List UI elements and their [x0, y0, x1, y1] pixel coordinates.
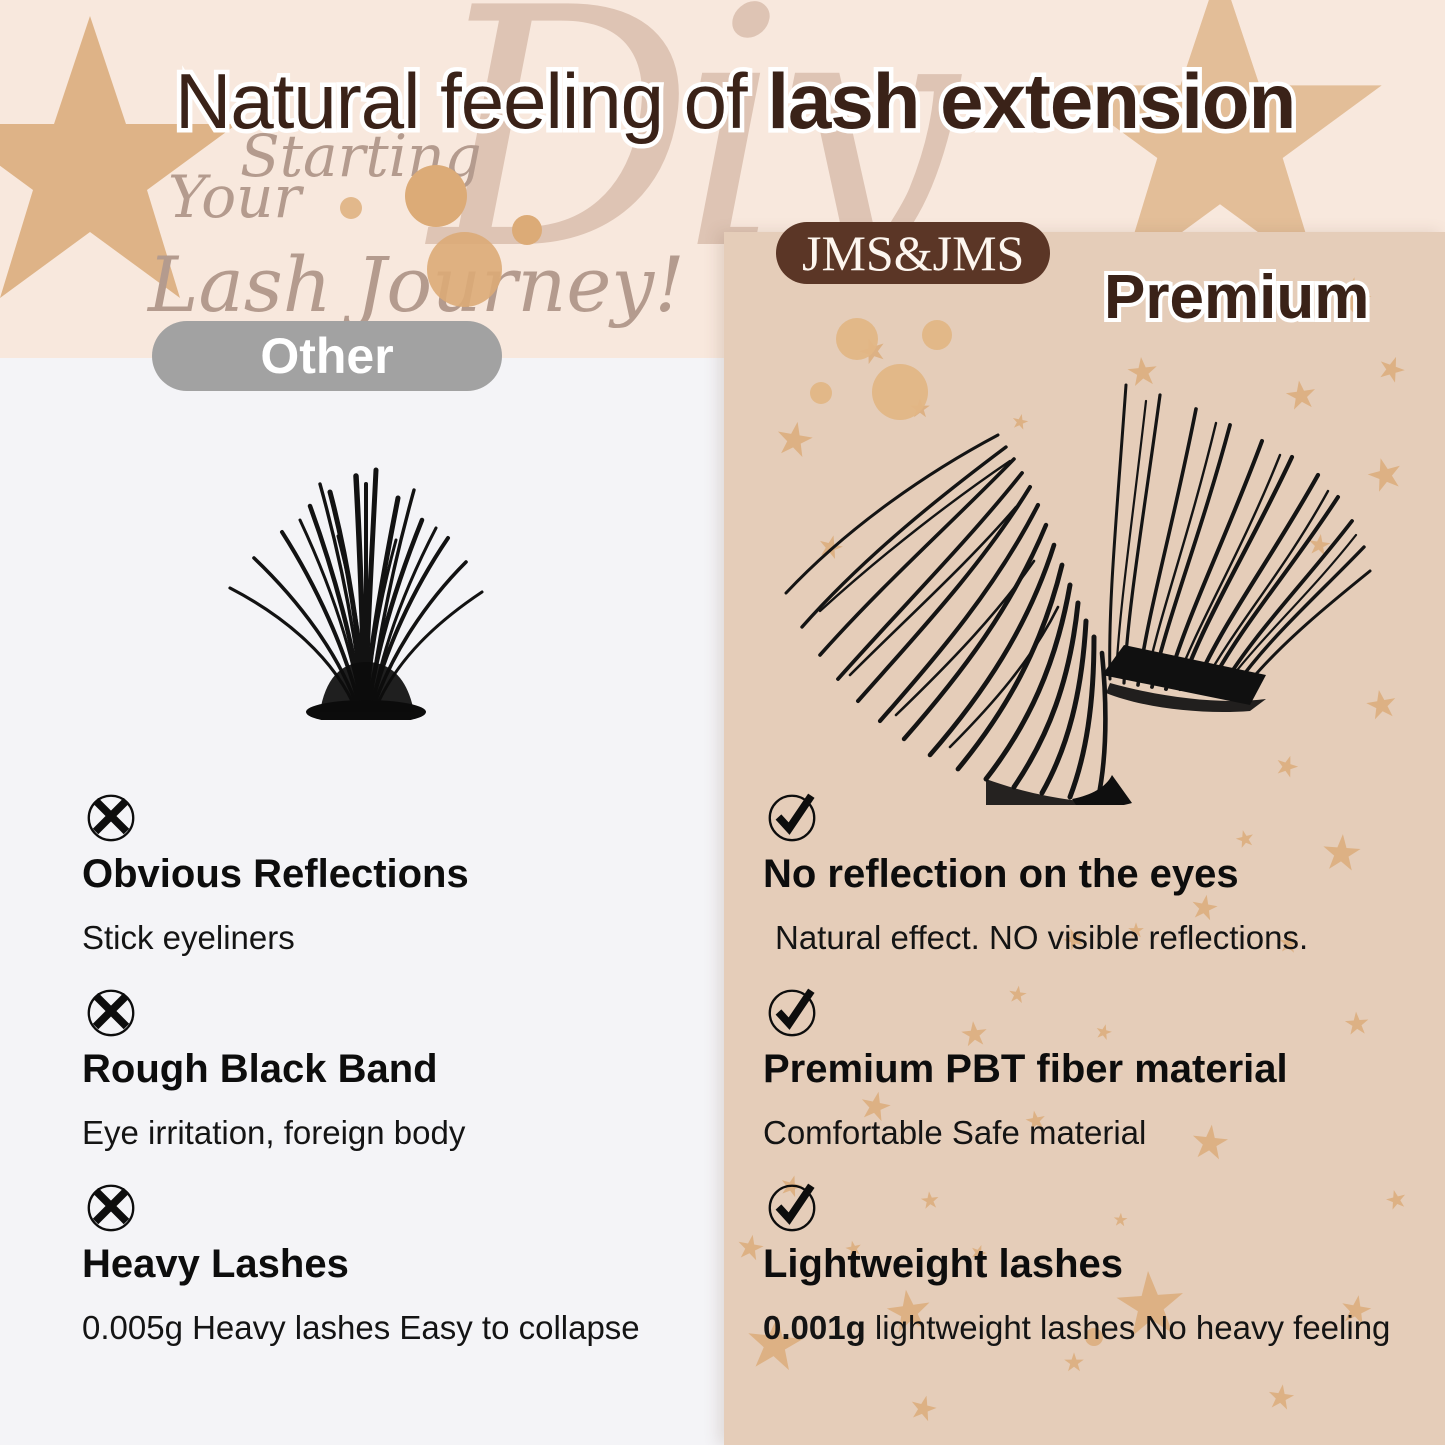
- decor-text-your: Your: [168, 163, 301, 231]
- feature-subtitle: 0.001g lightweight lashes No heavy feeli…: [763, 1309, 1428, 1347]
- feature-subtitle: Comfortable Safe material: [763, 1114, 1428, 1152]
- feature-subtitle: 0.005g Heavy lashes Easy to collapse: [82, 1309, 682, 1347]
- cross-circle-icon: [82, 1178, 140, 1236]
- feature-sub-text: Natural effect. NO visible reflections.: [775, 919, 1308, 956]
- feature-subtitle: Stick eyeliners: [82, 919, 682, 957]
- feature-subtitle: Natural effect. NO visible reflections.: [775, 919, 1428, 957]
- decor-dot: [512, 215, 542, 245]
- page-title: Natural feeling of lash extension: [175, 56, 1295, 147]
- badge-other: Other: [152, 321, 502, 391]
- feature-title: Rough Black Band: [82, 1047, 682, 1092]
- headline-regular: Natural feeling of: [175, 57, 767, 145]
- decor-text-lash-journey: Lash Journey!: [148, 240, 685, 329]
- decor-dot: [340, 197, 362, 219]
- feature-item: Rough Black Band Eye irritation, foreign…: [82, 983, 682, 1178]
- infographic-canvas: Diy Starting Your Lash Journey! Natural …: [0, 0, 1445, 1445]
- feature-item: Obvious Reflections Stick eyeliners: [82, 788, 682, 983]
- feature-item: Heavy Lashes 0.005g Heavy lashes Easy to…: [82, 1178, 682, 1373]
- feature-title: Premium PBT fiber material: [763, 1047, 1428, 1092]
- badge-brand-jms: JMS&JMS: [776, 222, 1050, 284]
- lash-cluster-other-image: [170, 440, 560, 720]
- check-circle-icon: [763, 983, 821, 1041]
- label-premium: Premium: [1104, 262, 1369, 333]
- feature-title: Heavy Lashes: [82, 1242, 682, 1287]
- premium-feature-list: No reflection on the eyes Natural effect…: [763, 788, 1428, 1373]
- check-circle-icon: [763, 788, 821, 846]
- decor-dot: [405, 165, 467, 227]
- other-feature-list: Obvious Reflections Stick eyeliners Roug…: [82, 788, 682, 1373]
- feature-sub-bold: 0.001g: [763, 1309, 866, 1346]
- lash-clusters-premium-image: [780, 375, 1400, 805]
- feature-sub-text: Comfortable Safe material: [763, 1114, 1146, 1151]
- feature-title: Obvious Reflections: [82, 852, 682, 897]
- headline-bold: lash extension: [767, 57, 1295, 145]
- check-circle-icon: [763, 1178, 821, 1236]
- feature-item: Lightweight lashes 0.001g lightweight la…: [763, 1178, 1428, 1373]
- feature-title: No reflection on the eyes: [763, 852, 1428, 897]
- feature-title: Lightweight lashes: [763, 1242, 1428, 1287]
- feature-sub-text: lightweight lashes No heavy feeling: [866, 1309, 1391, 1346]
- cross-circle-icon: [82, 788, 140, 846]
- feature-subtitle: Eye irritation, foreign body: [82, 1114, 682, 1152]
- decor-dot: [836, 318, 878, 360]
- feature-item: No reflection on the eyes Natural effect…: [763, 788, 1428, 983]
- cross-circle-icon: [82, 983, 140, 1041]
- feature-item: Premium PBT fiber material Comfortable S…: [763, 983, 1428, 1178]
- decor-dot: [922, 320, 952, 350]
- decor-dot: [427, 232, 502, 307]
